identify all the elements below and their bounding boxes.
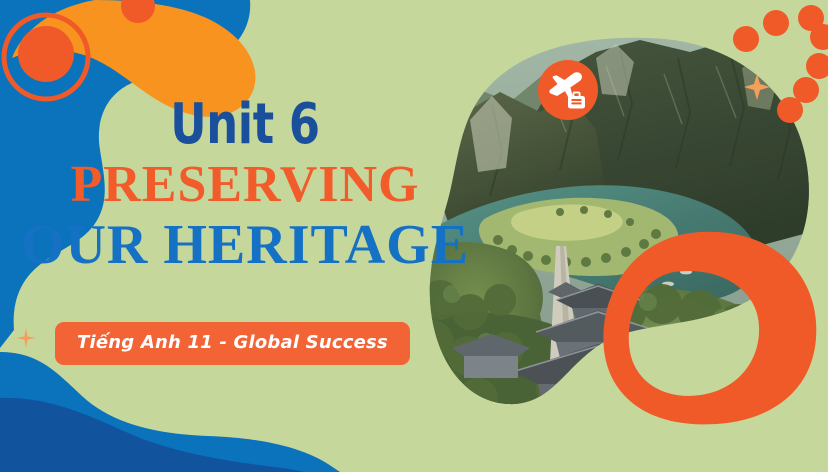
left-sparkle-icon — [14, 326, 38, 355]
headline-line-2: OUR HERITAGE — [0, 214, 490, 276]
slide-canvas: Unit 6 PRESERVING OUR HERITAGE Tiếng Anh… — [0, 0, 828, 472]
unit-label: Unit 6 — [49, 96, 441, 154]
headline-line-1: PRESERVING — [0, 156, 490, 214]
airplane-icon — [549, 72, 582, 99]
title-block: Unit 6 PRESERVING OUR HERITAGE — [0, 96, 490, 276]
subtitle-label: Tiếng Anh 11 - Global Success — [77, 333, 388, 353]
airplane-badge — [538, 60, 598, 120]
subtitle-pill: Tiếng Anh 11 - Global Success — [55, 322, 410, 365]
